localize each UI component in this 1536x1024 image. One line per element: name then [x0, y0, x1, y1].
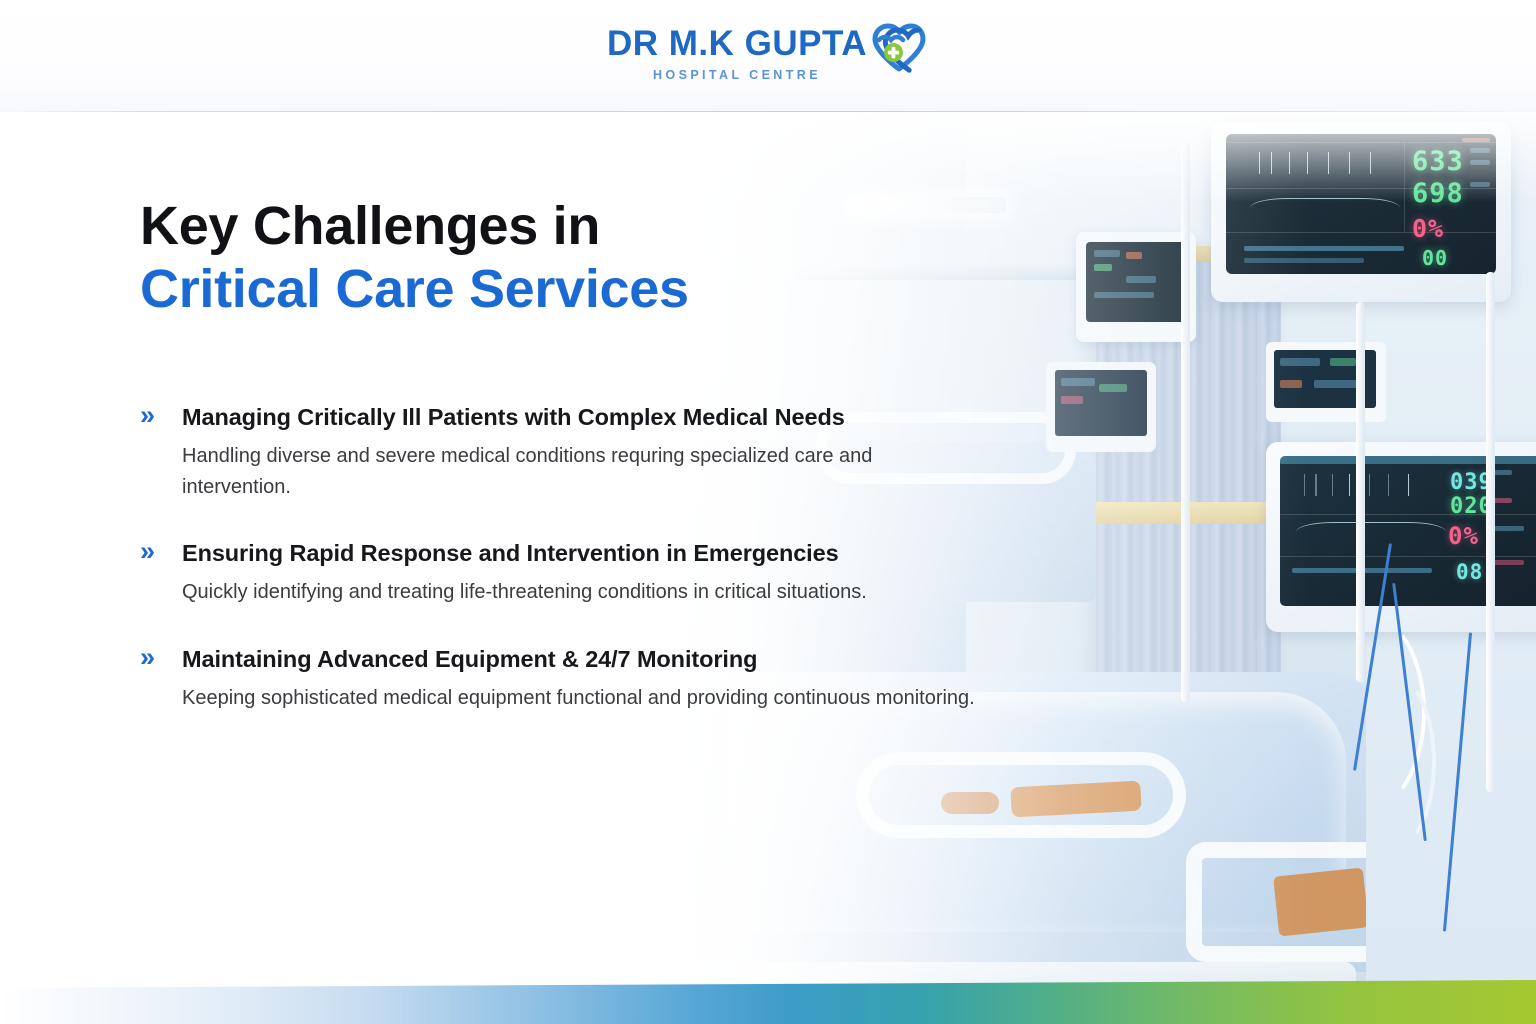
list-item: » Maintaining Advanced Equipment & 24/7 … — [140, 642, 980, 714]
list-item-title: Managing Critically Ill Patients with Co… — [182, 400, 845, 434]
monitor2-readout-4: 08 — [1456, 560, 1483, 584]
brand-logo-text: DR M.K GUPTA HOSPITAL CENTRE — [607, 26, 867, 82]
challenges-list: » Managing Critically Ill Patients with … — [140, 400, 980, 747]
page-title-line-2: Critical Care Services — [140, 259, 689, 319]
slide-content: Key Challenges in Critical Care Services… — [0, 112, 980, 1024]
brand-wordmark: DR M.K GUPTA — [607, 26, 867, 61]
photo-monitor-small-screen — [1055, 370, 1147, 436]
list-item: » Ensuring Rapid Response and Interventi… — [140, 536, 980, 608]
photo-patient-monitor-primary-screen: 633 698 0% 00 — [1226, 134, 1496, 274]
list-item-title: Ensuring Rapid Response and Intervention… — [182, 536, 839, 570]
list-item-description: Handling diverse and severe medical cond… — [182, 441, 980, 502]
double-chevron-right-icon: » — [140, 538, 166, 564]
brand-logo[interactable]: DR M.K GUPTA HOSPITAL CENTRE — [607, 26, 929, 82]
brand-tagline: HOSPITAL CENTRE — [607, 68, 867, 82]
list-item-title: Maintaining Advanced Equipment & 24/7 Mo… — [182, 642, 757, 676]
list-item-description: Keeping sophisticated medical equipment … — [182, 683, 980, 713]
monitor-readout-2: 698 — [1412, 178, 1464, 209]
list-item-description: Quickly identifying and treating life-th… — [182, 577, 980, 607]
photo-monitor-small-screen — [1086, 242, 1186, 322]
photo-iv-pole — [1181, 142, 1190, 702]
list-item: » Managing Critically Ill Patients with … — [140, 400, 980, 502]
photo-iv-pole — [1486, 272, 1495, 792]
monitor2-readout-3: 0% — [1448, 522, 1479, 550]
double-chevron-right-icon: » — [140, 644, 166, 670]
page-title: Key Challenges in Critical Care Services — [140, 197, 689, 320]
page-header: DR M.K GUPTA HOSPITAL CENTRE — [0, 0, 1536, 112]
monitor-readout-3: 0% — [1412, 214, 1444, 243]
heart-medical-cross-icon — [871, 22, 929, 79]
double-chevron-right-icon: » — [140, 402, 166, 428]
photo-patient-monitor-secondary-screen: 039 020 0% 08 — [1280, 456, 1536, 606]
page-title-line-1: Key Challenges in — [140, 197, 689, 255]
photo-siderail-pad — [1273, 867, 1369, 936]
monitor-readout-4: 00 — [1422, 246, 1448, 270]
monitor-readout-1: 633 — [1412, 146, 1464, 177]
slide-canvas: 633 698 0% 00 039 020 0% — [0, 0, 1536, 1024]
